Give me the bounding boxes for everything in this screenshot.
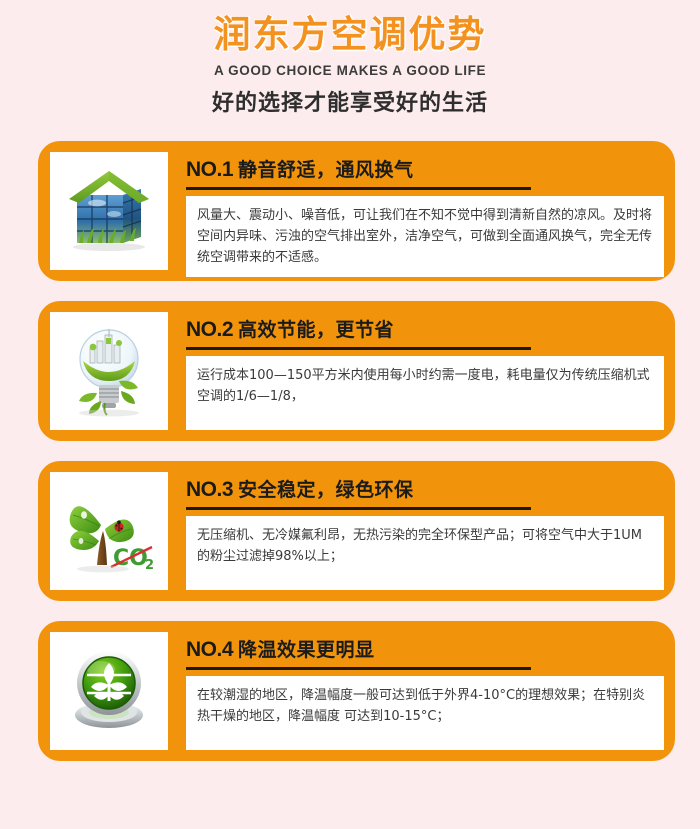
card-description: 无压缩机、无冷媒氟利昂，无热污染的完全环保型产品；可将空气中大于1UM的粉尘过滤…: [197, 525, 654, 567]
advantage-card: NO.4降温效果更明显 在较潮湿的地区，降温幅度一般可达到低于外界4-10°C的…: [38, 621, 675, 761]
card-title-text: 静音舒适，通风换气: [238, 159, 414, 181]
green-roof-building-icon: [57, 159, 161, 263]
card-number: NO.4: [186, 638, 233, 661]
eco-lightbulb-icon: [57, 319, 161, 423]
card-description-box: 在较潮湿的地区，降温幅度一般可达到低于外界4-10°C的理想效果；在特别炎热干燥…: [186, 676, 664, 750]
card-description-box: 运行成本100—150平方米内使用每小时约需一度电，耗电量仅为传统压缩机式空调的…: [186, 356, 664, 430]
green-globe-emblem-icon: [57, 639, 161, 743]
card-description: 运行成本100—150平方米内使用每小时约需一度电，耗电量仅为传统压缩机式空调的…: [197, 365, 654, 407]
svg-text:2: 2: [145, 558, 154, 573]
card-content: NO.3安全稳定，绿色环保 无压缩机、无冷媒氟利昂，无热污染的完全环保型产品；可…: [186, 475, 700, 590]
card-description-box: 风量大、震动小、噪音低，可让我们在不知不觉中得到清新自然的凉风。及时将空间内异味…: [186, 196, 664, 277]
header-subtitle-english: A GOOD CHOICE MAKES A GOOD LIFE: [0, 63, 700, 78]
card-title: NO.2高效节能，更节省: [186, 315, 700, 347]
card-title-text: 高效节能，更节省: [238, 319, 394, 341]
advantage-card: NO.2高效节能，更节省 运行成本100—150平方米内使用每小时约需一度电，耗…: [38, 301, 675, 441]
title-underline: [186, 347, 531, 350]
card-title-text: 安全稳定，绿色环保: [238, 479, 414, 501]
card-description-box: 无压缩机、无冷媒氟利昂，无热污染的完全环保型产品；可将空气中大于1UM的粉尘过滤…: [186, 516, 664, 590]
advantage-card-list: NO.1静音舒适，通风换气 风量大、震动小、噪音低，可让我们在不知不觉中得到清新…: [0, 141, 700, 761]
card-icon-container: CO 2: [50, 472, 168, 590]
card-number: NO.1: [186, 158, 233, 181]
card-number: NO.2: [186, 318, 233, 341]
card-title: NO.4降温效果更明显: [186, 635, 700, 667]
title-underline: [186, 187, 531, 190]
card-icon-container: [50, 632, 168, 750]
card-content: NO.4降温效果更明显 在较潮湿的地区，降温幅度一般可达到低于外界4-10°C的…: [186, 635, 700, 750]
card-content: NO.1静音舒适，通风换气 风量大、震动小、噪音低，可让我们在不知不觉中得到清新…: [186, 155, 700, 277]
advantage-card: CO 2 NO.3安全稳定，绿色环保 无压缩机、无冷媒氟利昂，无热污染的完全环保…: [38, 461, 675, 601]
advantage-card: NO.1静音舒适，通风换气 风量大、震动小、噪音低，可让我们在不知不觉中得到清新…: [38, 141, 675, 281]
card-content: NO.2高效节能，更节省 运行成本100—150平方米内使用每小时约需一度电，耗…: [186, 315, 700, 430]
card-description: 在较潮湿的地区，降温幅度一般可达到低于外界4-10°C的理想效果；在特别炎热干燥…: [197, 685, 654, 727]
card-title: NO.3安全稳定，绿色环保: [186, 475, 700, 507]
title-underline: [186, 667, 531, 670]
card-icon-container: [50, 152, 168, 270]
sapling-co2-icon: CO 2: [57, 479, 161, 583]
header-subtitle-chinese: 好的选择才能享受好的生活: [0, 85, 700, 117]
page-header: 润东方空调优势 A GOOD CHOICE MAKES A GOOD LIFE …: [0, 0, 700, 117]
card-icon-container: [50, 312, 168, 430]
card-description: 风量大、震动小、噪音低，可让我们在不知不觉中得到清新自然的凉风。及时将空间内异味…: [197, 205, 654, 268]
title-underline: [186, 507, 531, 510]
card-title: NO.1静音舒适，通风换气: [186, 155, 700, 187]
card-number: NO.3: [186, 478, 233, 501]
page-title: 润东方空调优势: [0, 14, 700, 57]
card-title-text: 降温效果更明显: [238, 639, 375, 661]
